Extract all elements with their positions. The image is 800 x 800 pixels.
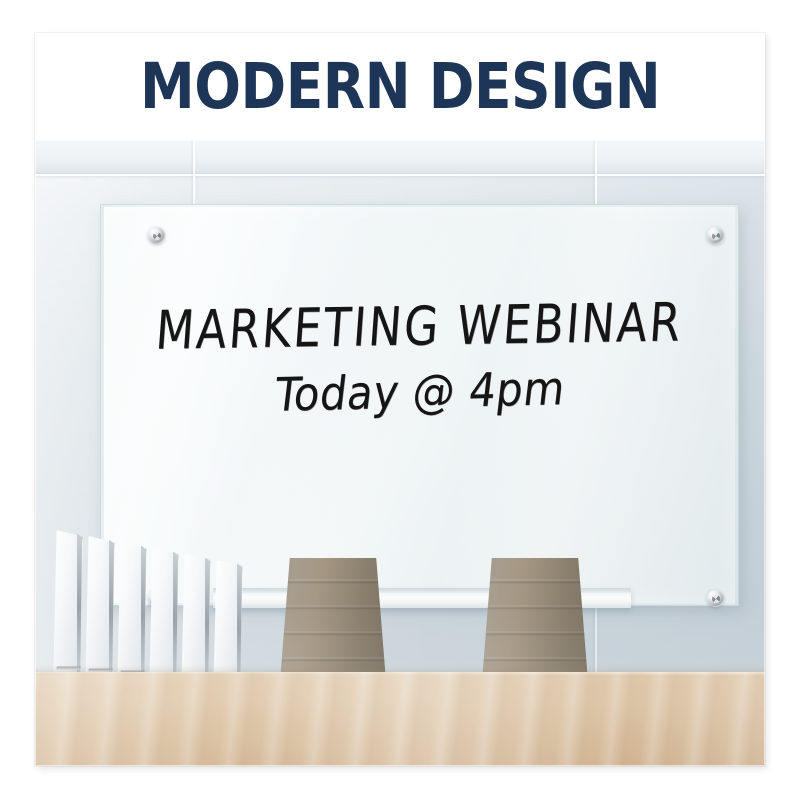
product-photo: MARKETING WEBINAR Today @ 4pm [35,140,765,766]
product-image-card: MODERN DESIGN MARKETING [35,33,765,766]
handwriting-line-1: MARKETING WEBINAR [154,295,685,357]
headline-banner: MODERN DESIGN [35,33,765,140]
mounting-bolt-icon-top-left [148,227,165,244]
conference-table-wood-grain [35,672,765,766]
mounting-bolt-icon-top-right [707,227,724,244]
board-edge-top [101,205,738,207]
page-title: MODERN DESIGN [140,55,660,118]
screenshot-canvas: MODERN DESIGN MARKETING [0,0,800,800]
glass-dry-erase-board: MARKETING WEBINAR Today @ 4pm [101,205,738,605]
mounting-bolt-icon-bottom-right [707,590,724,607]
whiteboard-handwriting: MARKETING WEBINAR Today @ 4pm [101,303,738,413]
conference-table [35,672,765,766]
wall-trim [35,140,765,174]
handwriting-line-2: Today @ 4pm [272,366,567,419]
wall-trim-line [35,174,765,176]
